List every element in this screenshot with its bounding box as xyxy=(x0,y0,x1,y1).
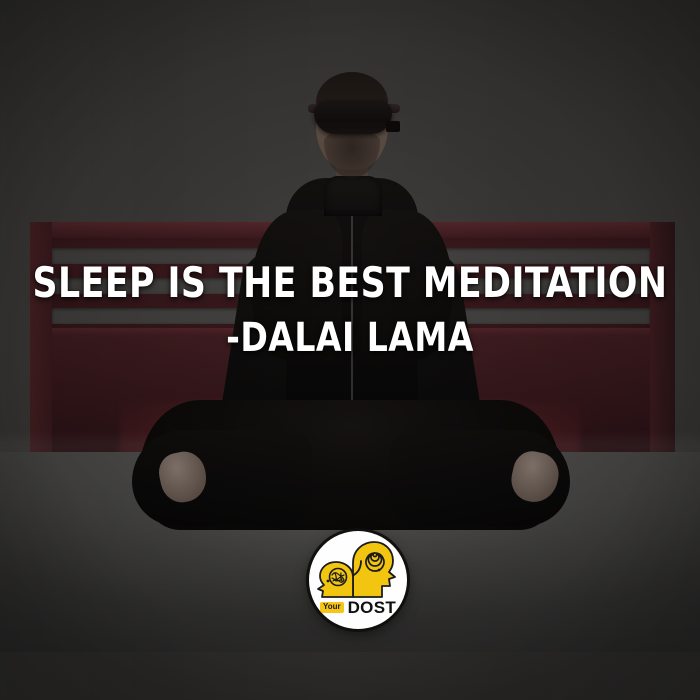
logo-wordmark: Your DOST xyxy=(309,599,407,616)
yourdost-logo[interactable]: Your DOST xyxy=(309,531,407,629)
logo-your-badge: Your xyxy=(320,602,344,613)
left-shoulder xyxy=(252,210,342,360)
sleep-mask-clip xyxy=(386,121,400,132)
beard xyxy=(324,132,380,178)
logo-dost-text: DOST xyxy=(348,599,396,616)
quote-poster: SLEEP IS THE BEST MEDITATION -DALAI LAMA xyxy=(0,0,700,700)
sleep-mask xyxy=(314,100,392,134)
jacket-collar xyxy=(324,176,382,216)
right-shoulder xyxy=(362,210,452,360)
two-heads-brain-icon xyxy=(309,537,407,599)
